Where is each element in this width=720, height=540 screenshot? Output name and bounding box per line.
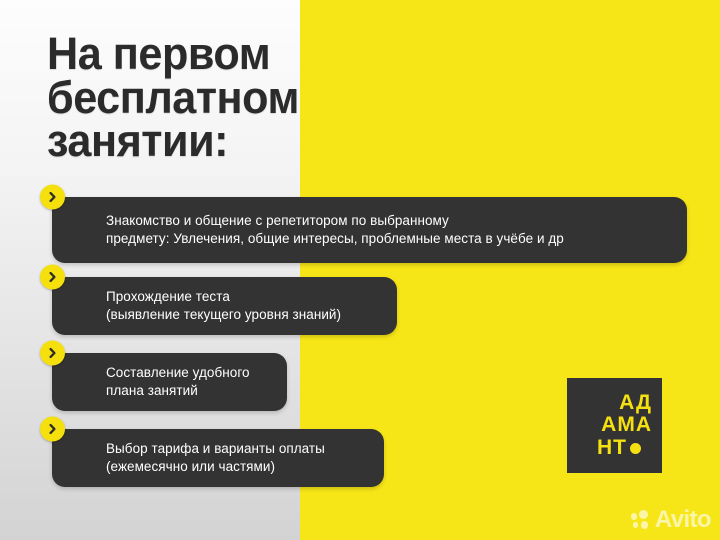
list-item-line-2: предмету: Увлечения, общие интересы, про… (106, 230, 564, 248)
brand-logo: АД АМА НТ (567, 378, 662, 473)
brand-logo-line-3: НТ (597, 437, 627, 459)
list-item-line-1: Знакомство и общение с репетитором по вы… (106, 212, 564, 230)
brand-logo-line-1: АД (619, 392, 652, 414)
list-item-card: Выбор тарифа и варианты оплаты (ежемесяч… (52, 429, 384, 487)
brand-logo-line-2: АМА (601, 414, 652, 436)
list-item-card: Прохождение теста (выявление текущего ур… (52, 277, 397, 335)
chevron-right-icon (40, 185, 65, 210)
list-item-text: Выбор тарифа и варианты оплаты (ежемесяч… (52, 440, 343, 476)
avito-watermark: Avito (631, 508, 711, 532)
chevron-right-icon (40, 265, 65, 290)
list-item-line-1: Выбор тарифа и варианты оплаты (106, 440, 325, 458)
list-item-line-2: (выявление текущего уровня знаний) (106, 306, 341, 324)
list-item-card: Знакомство и общение с репетитором по вы… (52, 197, 687, 263)
chevron-right-icon (40, 341, 65, 366)
list-item-line-1: Составление удобного (106, 364, 250, 382)
avito-logo-icon (631, 510, 651, 530)
list-item-card: Составление удобного плана занятий (52, 353, 287, 411)
list-item-line-2: (ежемесячно или частями) (106, 458, 325, 476)
list-item-text: Прохождение теста (выявление текущего ур… (52, 288, 359, 324)
poster: На первом бесплатном занятии: Знакомство… (0, 0, 720, 540)
brand-logo-dot-icon (630, 443, 641, 454)
list-item-line-1: Прохождение теста (106, 288, 341, 306)
list-item-text: Составление удобного плана занятий (52, 364, 268, 400)
brand-logo-line-3-wrap: НТ (597, 437, 641, 459)
list-item-text: Знакомство и общение с репетитором по вы… (52, 212, 582, 248)
list-item-line-2: плана занятий (106, 382, 250, 400)
chevron-right-icon (40, 417, 65, 442)
avito-watermark-label: Avito (655, 508, 711, 532)
